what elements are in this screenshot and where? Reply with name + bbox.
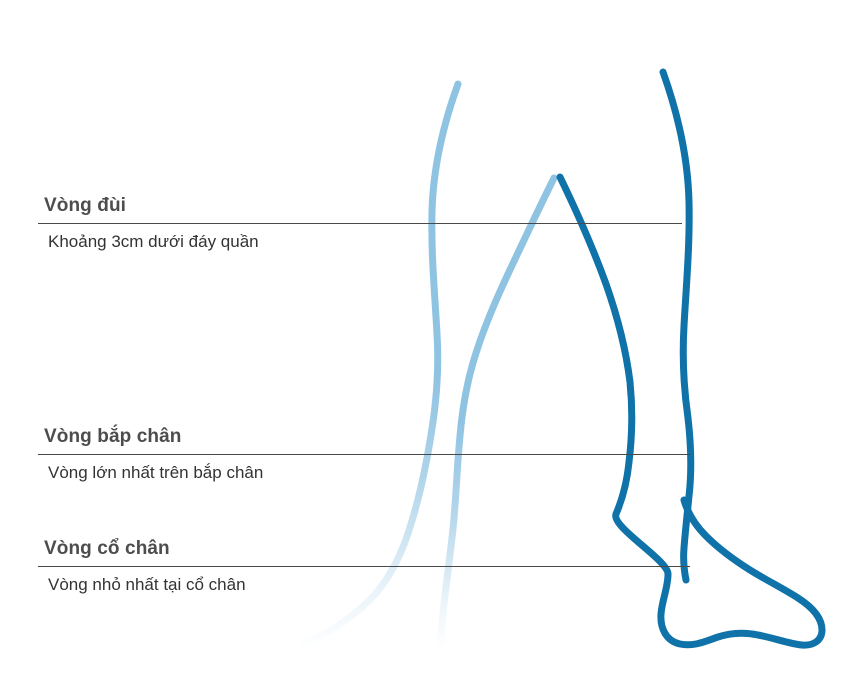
measurement-calf-subtitle: Vòng lớn nhất trên bắp chân — [38, 462, 690, 484]
measurement-calf: Vòng bắp chân Vòng lớn nhất trên bắp châ… — [38, 426, 690, 484]
leg-measurement-diagram: Vòng đùi Khoảng 3cm dưới đáy quần Vòng b… — [0, 0, 861, 687]
measurement-ankle: Vòng cổ chân Vòng nhỏ nhất tại cổ chân — [38, 538, 690, 596]
measurement-thigh-subtitle: Khoảng 3cm dưới đáy quần — [38, 231, 682, 253]
measurement-thigh-rule — [38, 223, 682, 224]
measurement-ankle-title: Vòng cổ chân — [38, 538, 690, 560]
measurement-ankle-subtitle: Vòng nhỏ nhất tại cổ chân — [38, 574, 690, 596]
measurement-thigh: Vòng đùi Khoảng 3cm dưới đáy quần — [38, 195, 682, 253]
measurement-calf-title: Vòng bắp chân — [38, 426, 690, 448]
measurement-calf-rule — [38, 454, 690, 455]
measurement-thigh-title: Vòng đùi — [38, 195, 682, 217]
measurement-ankle-rule — [38, 566, 690, 567]
